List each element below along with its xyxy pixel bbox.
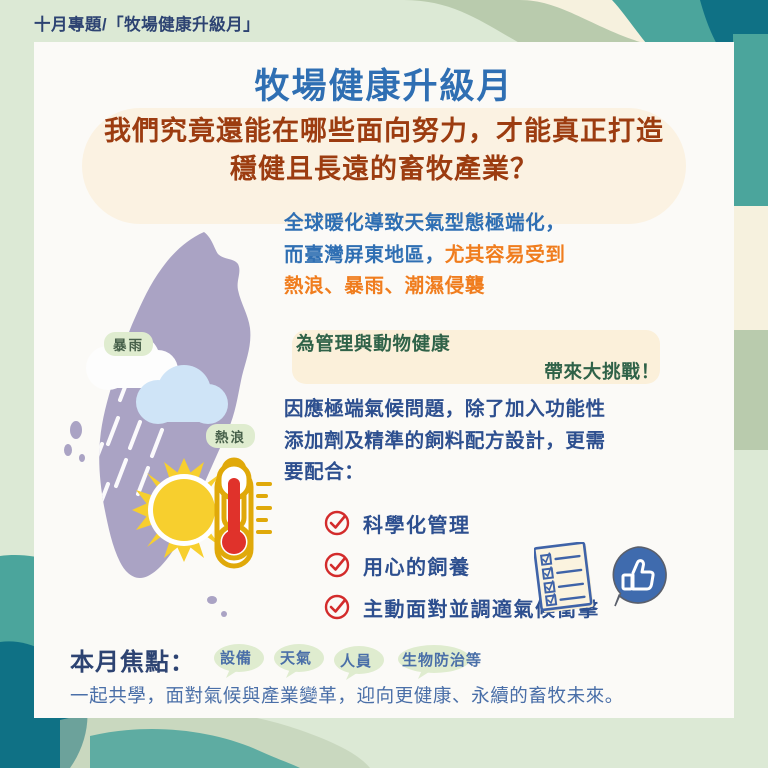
penghu-islet <box>70 421 82 439</box>
footer-closing-text: 一起共學，面對氣候與產業變革，迎向更健康、永續的畜牧未來。 <box>70 682 710 708</box>
clipboard-checklist-icon <box>534 542 596 614</box>
penghu-islet-3 <box>79 454 85 462</box>
highlight-challenge-callout: 為管理與動物健康 帶來大挑戰！ <box>296 330 676 386</box>
highlight-line-2: 帶來大挑戰！ <box>296 358 676 386</box>
focus-tag[interactable]: 人員 <box>340 650 372 671</box>
highlight-line-1: 為管理與動物健康 <box>296 333 450 354</box>
penghu-islet-2 <box>64 444 72 456</box>
page-subtitle: 我們究竟還能在哪些面向努力，才能真正打造 穩健且長遠的畜牧產業？ <box>64 112 704 189</box>
checklist-item-label: 科學化管理 <box>363 509 471 538</box>
checklist-item-label: 用心的飼養 <box>363 551 471 580</box>
para-a-line-2-orange: 尤其容易受到 <box>445 244 566 266</box>
para-c-line-1: 因應極端氣候問題，除了加入功能性 <box>284 394 694 426</box>
focus-tag[interactable]: 生物防治等 <box>402 649 482 670</box>
check-circle-icon <box>324 594 350 620</box>
para-c-line-2: 添加劑及精準的飼料配方設計，更需 <box>284 426 694 458</box>
checklist-item[interactable]: 科學化管理 <box>324 504 714 542</box>
thermometer-icon <box>217 460 270 566</box>
lanyu-islet <box>207 596 217 604</box>
subtitle-line-2: 穩健且長遠的畜牧產業？ <box>230 154 538 184</box>
thumbs-up-speech-bubble-icon <box>605 544 671 610</box>
para-a-line-1: 全球暖化導致天氣型態極端化， <box>284 212 565 234</box>
lanyu-islet-2 <box>221 611 227 617</box>
para-a-line-3: 熱浪、暴雨、潮濕侵襲 <box>284 275 485 297</box>
paragraph-climate-warming: 全球暖化導致天氣型態極端化， 而臺灣屏東地區，尤其容易受到 熱浪、暴雨、潮濕侵襲 <box>284 208 694 303</box>
paragraph-response-measures: 因應極端氣候問題，除了加入功能性 添加劑及精準的飼料配方設計，更需 要配合： <box>284 394 694 489</box>
main-card: 牧場健康升級月 我們究竟還能在哪些面向努力，才能真正打造 穩健且長遠的畜牧產業？ <box>34 42 734 718</box>
focus-tag[interactable]: 設備 <box>220 647 252 668</box>
monthly-focus-row: 本月焦點： 設備 天氣 人員 <box>70 640 710 680</box>
page-title: 牧場健康升級月 <box>34 58 734 109</box>
para-a-line-2-blue: 而臺灣屏東地區， <box>284 244 445 266</box>
eyebrow-topic-label: 十月專題/「牧場健康升級月」 <box>34 11 260 35</box>
map-label-heat-wave: 熱浪 <box>206 424 255 448</box>
check-circle-icon <box>324 510 350 536</box>
subtitle-line-1: 我們究竟還能在哪些面向努力，才能真正打造 <box>104 116 664 146</box>
focus-tag[interactable]: 天氣 <box>280 647 312 668</box>
infographic-canvas: 十月專題/「牧場健康升級月」 牧場健康升級月 我們究竟還能在哪些面向努力，才能真… <box>0 0 768 768</box>
para-c-line-3: 要配合： <box>284 457 694 489</box>
map-label-heavy-rain: 暴雨 <box>104 332 153 356</box>
monthly-focus-label: 本月焦點： <box>70 642 195 677</box>
check-circle-icon <box>324 552 350 578</box>
